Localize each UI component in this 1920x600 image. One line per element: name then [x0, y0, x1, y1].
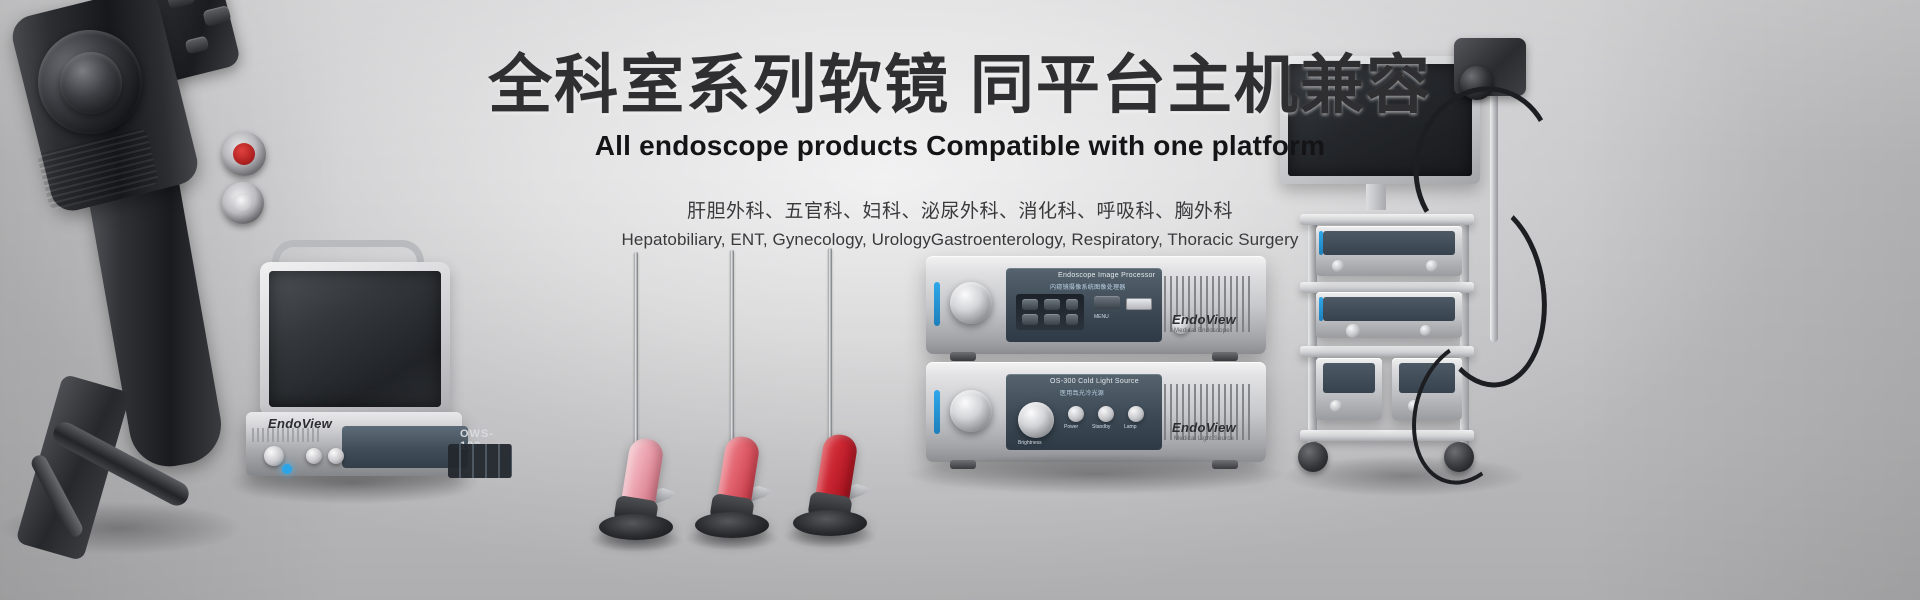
light-source-panel-title-en: OS-300 Cold Light Source [1050, 378, 1139, 385]
product-banner: EndoView OWS-100 [0, 0, 1920, 600]
light-source-foot-left [950, 460, 976, 469]
light-source-power-button[interactable] [1068, 406, 1084, 422]
processor-foot-right [1212, 352, 1238, 361]
instrument-stand-base [695, 512, 769, 538]
page-subtitle: All endoscope products Compatible with o… [0, 130, 1920, 162]
processor-key-5[interactable] [1044, 314, 1060, 325]
usb-port-icon[interactable] [1126, 298, 1152, 310]
light-source-standby-button[interactable] [1098, 406, 1114, 422]
processor-control-panel: Endoscope Image Processor 内窥镜摄像系统图像处理器 M… [1006, 268, 1162, 342]
light-source-power-label: Power [1064, 424, 1078, 430]
processor-foot-left [950, 352, 976, 361]
processor-blue-stripe [934, 282, 940, 326]
image-processor-unit: Endoscope Image Processor 内窥镜摄像系统图像处理器 M… [926, 256, 1266, 354]
processor-sub-label: Medical Endoscope [1174, 328, 1230, 334]
brightness-dial[interactable] [1018, 402, 1054, 438]
list-item [790, 248, 870, 538]
cart-caster-left [1298, 442, 1328, 472]
list-item [692, 250, 772, 540]
specialties-chinese: 肝胆外科、五官科、妇科、泌尿外科、消化科、呼吸科、胸外科 [0, 196, 1920, 223]
light-source-lamp-label: Lamp [1124, 424, 1137, 430]
processor-key-6[interactable] [1066, 314, 1078, 325]
workstation-keypad[interactable] [448, 444, 512, 478]
light-source-panel-title-cn: 医用氙光冷光源 [1060, 388, 1104, 397]
page-title: 全科室系列软镜 同平台主机兼容 [0, 52, 1920, 120]
workstation-control-panel: OWS-100 [342, 426, 468, 468]
instrument-shaft [730, 250, 734, 446]
light-source-foot-right [1212, 460, 1238, 469]
light-source-output-port[interactable] [950, 390, 992, 432]
cart-device-2-knob[interactable] [1420, 325, 1431, 336]
processor-key-wb[interactable] [1022, 299, 1038, 310]
cart-device-3-knob[interactable] [1330, 400, 1342, 412]
light-source-control-panel: OS-300 Cold Light Source 医用氙光冷光源 Brightn… [1006, 374, 1162, 450]
light-source-sub-label: Medical Light Source [1174, 436, 1234, 442]
processor-key-menu[interactable] [1066, 299, 1078, 310]
processor-panel-title-cn: 内窥镜摄像系统图像处理器 [1050, 282, 1126, 291]
cart-device-2-dial[interactable] [1346, 324, 1360, 338]
light-source-lamp-button[interactable] [1128, 406, 1144, 422]
processor-brand-label: EndoView [1172, 312, 1236, 327]
brightness-dial-label: Brightness [1018, 440, 1042, 446]
light-source-standby-label: Standby [1092, 424, 1110, 430]
processor-key-4[interactable] [1022, 314, 1038, 325]
processor-main-dial[interactable] [950, 282, 992, 324]
instrument-shaft [634, 252, 638, 448]
cart-device-1-knob[interactable] [1332, 260, 1344, 272]
specialties-english: Hepatobiliary, ENT, Gynecology, UrologyG… [0, 230, 1920, 250]
processor-key-rec[interactable] [1044, 299, 1060, 310]
processor-function-button-a[interactable] [1094, 296, 1120, 309]
instrument-shaft [828, 248, 832, 444]
processor-button-group-label: MENU [1094, 314, 1109, 320]
light-source-brand-label: EndoView [1172, 420, 1236, 435]
banner-text-block: 全科室系列软镜 同平台主机兼容 All endoscope products C… [0, 52, 1920, 250]
cold-light-source-unit: OS-300 Cold Light Source 医用氙光冷光源 Brightn… [926, 362, 1266, 462]
list-item [596, 252, 676, 542]
workstation-knob-3[interactable] [328, 448, 344, 464]
light-source-blue-stripe [934, 390, 940, 434]
instrument-stand-base [793, 510, 867, 536]
processor-panel-title-en: Endoscope Image Processor [1058, 272, 1155, 279]
instrument-stand-base [599, 514, 673, 540]
cart-device-3-panel [1323, 363, 1375, 393]
cart-device-3 [1316, 358, 1382, 420]
